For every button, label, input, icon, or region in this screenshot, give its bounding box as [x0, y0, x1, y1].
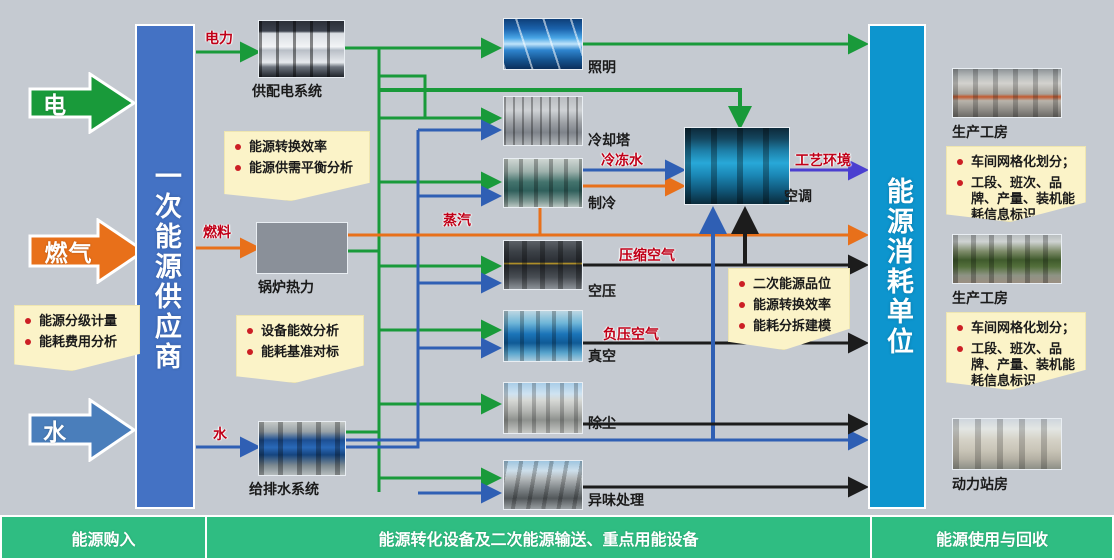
flow-label-water: 水: [213, 424, 227, 444]
refrigeration-photo: [504, 159, 582, 207]
note-secondary-energy: 二次能源品位 能源转换效率 能耗分拆建模: [728, 268, 850, 350]
flow-label-fuel: 燃料: [203, 222, 231, 242]
equipment-air-compressor: [503, 240, 583, 290]
caption-boiler: 锅炉热力: [258, 277, 314, 297]
equipment-water-supply: [258, 421, 346, 476]
note-conversion-efficiency: 能源转换效率 能源供需平衡分析: [224, 131, 370, 201]
caption-power-distribution: 供配电系统: [252, 81, 322, 101]
note-item: 能耗分拆建模: [738, 318, 840, 334]
phase-purchase: 能源购入: [0, 515, 207, 560]
boiler-photo: [257, 223, 347, 273]
caption-lighting: 照明: [588, 57, 616, 77]
note-item: 工段、班次、品牌、产量、装机能耗信息标识: [956, 341, 1076, 389]
equipment-boiler: [256, 222, 348, 274]
flow-label-compressed-air: 压缩空气: [619, 245, 675, 265]
production-workshop-2-photo: [953, 235, 1061, 283]
caption-water-supply: 给排水系统: [249, 479, 319, 499]
note-item: 设备能效分析: [246, 323, 354, 339]
caption-refrigeration: 制冷: [588, 193, 616, 213]
caption-power-station-building: 动力站房: [952, 474, 1008, 494]
caption-air-compressor: 空压: [588, 281, 616, 301]
equipment-lighting: [503, 18, 583, 70]
source-arrow-water: 水: [28, 398, 136, 462]
site-production-workshop-1: [952, 68, 1062, 118]
note-item: 二次能源品位: [738, 276, 840, 292]
production-workshop-1-photo: [953, 69, 1061, 117]
note-workshop-grid-2: 车间网格化划分； 工段、班次、品牌、产量、装机能耗信息标识: [946, 312, 1086, 390]
source-label-gas: 燃气: [45, 234, 93, 268]
consumer-bar-label: 能源消耗单位: [883, 177, 911, 357]
flow-label-negative-pressure-air: 负压空气: [603, 324, 659, 344]
caption-hvac: 空调: [784, 186, 812, 206]
hvac-photo: [685, 128, 789, 204]
equipment-vacuum: [503, 310, 583, 362]
note-equipment-efficiency: 设备能效分析 能耗基准对标: [236, 315, 364, 383]
vacuum-photo: [504, 311, 582, 361]
power-distribution-photo: [259, 21, 344, 77]
equipment-power-distribution: [258, 20, 345, 78]
note-item: 能源转换效率: [234, 139, 360, 155]
equipment-cooling-tower: [503, 96, 583, 146]
equipment-hvac: [684, 127, 790, 205]
dust-removal-photo: [504, 383, 582, 433]
note-item: 车间网格化划分；: [956, 320, 1076, 336]
site-production-workshop-2: [952, 234, 1062, 284]
caption-vacuum: 真空: [588, 346, 616, 366]
caption-dust-removal: 除尘: [588, 413, 616, 433]
power-station-photo: [953, 419, 1061, 469]
site-power-station-building: [952, 418, 1062, 470]
note-workshop-grid-1: 车间网格化划分； 工段、班次、品牌、产量、装机能耗信息标识: [946, 146, 1086, 222]
phase-use-recovery: 能源使用与回收: [872, 515, 1114, 560]
equipment-odor-treatment: [503, 460, 583, 510]
note-metering-cost: 能源分级计量 能耗费用分析: [14, 305, 140, 371]
flow-label-chilled-water: 冷冻水: [601, 150, 643, 170]
phase-conversion: 能源转化设备及二次能源输送、重点用能设备: [207, 515, 872, 560]
note-item: 能源转换效率: [738, 297, 840, 313]
phase-bar: 能源购入 能源转化设备及二次能源输送、重点用能设备 能源使用与回收: [0, 515, 1114, 560]
caption-odor-treatment: 异味处理: [588, 490, 644, 510]
note-item: 能源分级计量: [24, 313, 130, 329]
note-item: 能源供需平衡分析: [234, 160, 360, 176]
equipment-dust-removal: [503, 382, 583, 434]
water-supply-photo: [259, 422, 345, 475]
flow-label-process-environment: 工艺环境: [795, 150, 851, 170]
supplier-bar-label: 一次能源供应商: [151, 162, 179, 372]
lighting-photo: [504, 19, 582, 69]
equipment-refrigeration: [503, 158, 583, 208]
source-arrow-electricity: 电: [28, 72, 136, 134]
caption-production-workshop-1: 生产工房: [952, 122, 1008, 142]
energy-flow-diagram: 电 燃气 水 一次能源供应商 能源消耗单位 供配电系统 锅炉热力 给排水系统 照…: [0, 0, 1114, 560]
caption-cooling-tower: 冷却塔: [588, 130, 630, 150]
primary-energy-supplier-bar: 一次能源供应商: [135, 24, 195, 509]
energy-consumer-bar: 能源消耗单位: [868, 24, 926, 509]
source-label-electricity: 电: [43, 86, 67, 120]
odor-treatment-photo: [504, 461, 582, 509]
air-compressor-photo: [504, 241, 582, 289]
note-item: 能耗费用分析: [24, 334, 130, 350]
flow-label-steam: 蒸汽: [443, 210, 471, 230]
source-label-water: 水: [43, 413, 67, 447]
note-item: 车间网格化划分；: [956, 154, 1076, 170]
source-arrow-gas: 燃气: [28, 218, 146, 284]
cooling-tower-photo: [504, 97, 582, 145]
caption-production-workshop-2: 生产工房: [952, 288, 1008, 308]
note-item: 工段、班次、品牌、产量、装机能耗信息标识: [956, 175, 1076, 223]
note-item: 能耗基准对标: [246, 344, 354, 360]
flow-label-electric-power: 电力: [205, 28, 233, 48]
